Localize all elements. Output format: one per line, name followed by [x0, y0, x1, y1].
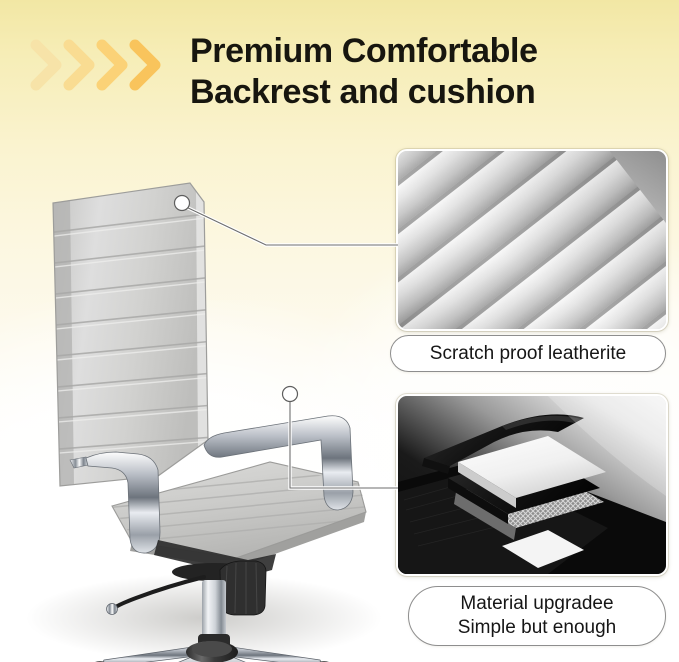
caption-pill-2-line-1: Material upgradee: [458, 592, 616, 616]
caption-pill-material-upgrade: Material upgradee Simple but enough: [408, 586, 666, 646]
office-chair-image: [8, 140, 400, 662]
double-chevron-right-icon: [30, 36, 175, 94]
detail-photo-material-layers: [396, 394, 668, 576]
headline-line-1: Premium Comfortable: [190, 31, 660, 72]
headline-line-2: Backrest and cushion: [190, 72, 660, 113]
headline: Premium Comfortable Backrest and cushion: [190, 31, 660, 113]
detail-photo-ribbed-leatherite: [396, 149, 668, 331]
marketing-image-canvas: Premium Comfortable Backrest and cushion: [0, 0, 679, 662]
caption-pill-scratch-proof: Scratch proof leatherite: [390, 335, 666, 372]
caption-pill-1-label: Scratch proof leatherite: [430, 343, 626, 365]
caption-pill-2-line-2: Simple but enough: [458, 616, 616, 640]
